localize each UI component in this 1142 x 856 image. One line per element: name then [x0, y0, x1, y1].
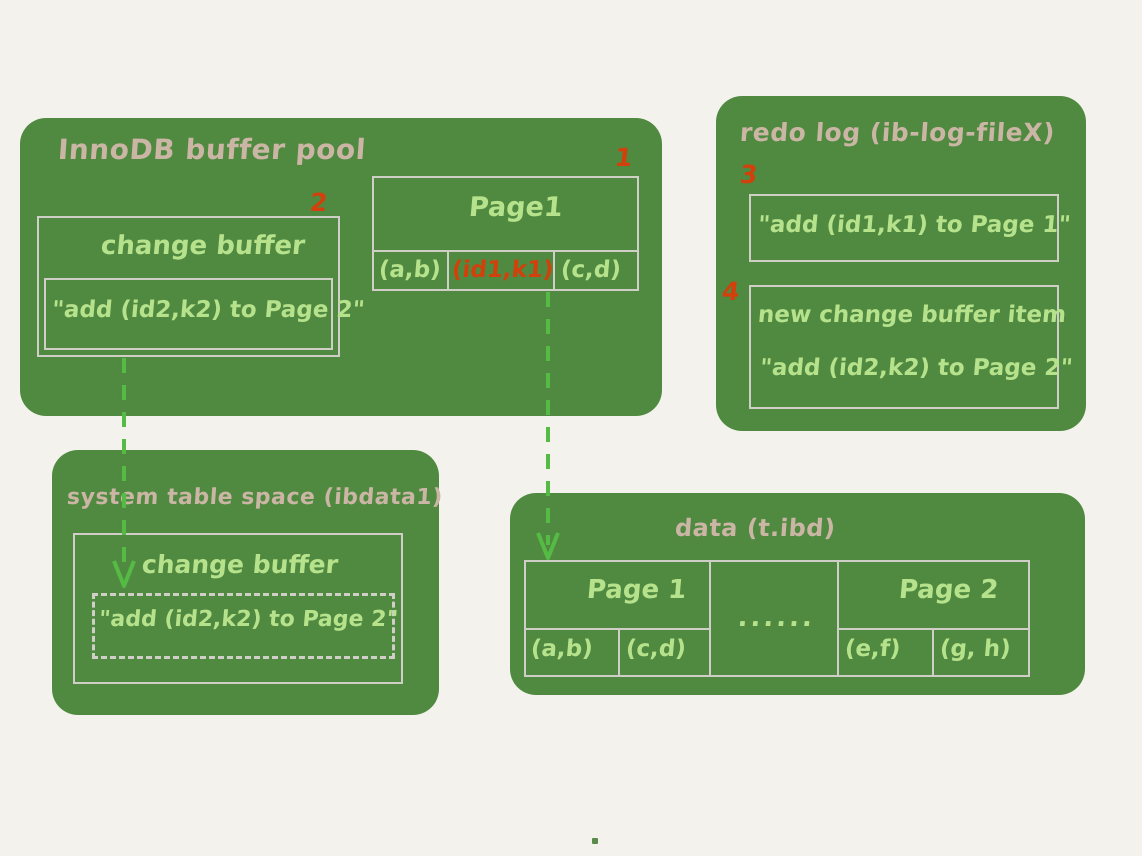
buffer-pool-page1-title: Page1: [468, 192, 564, 223]
buffer-pool-change-buffer-label: change buffer: [100, 231, 307, 261]
data-file-page2-cell-divider: [932, 628, 934, 677]
data-file-page1-header-divider: [524, 628, 709, 630]
system-tablespace-change-buffer-item-text: "add (id2,k2) to Page 2": [98, 607, 399, 632]
redo-log-entry-1-text: "add (id1,k1) to Page 1": [757, 212, 1072, 238]
marker-2-change-buffer: 2: [308, 188, 328, 217]
diagram-canvas: InnoDB buffer pool 1 2 change buffer "ad…: [0, 0, 1142, 856]
marker-3-redo-entry-1: 3: [738, 160, 758, 189]
buffer-pool-title: InnoDB buffer pool: [57, 133, 367, 166]
data-file-ellipsis: ......: [737, 603, 817, 633]
marker-4-redo-entry-2: 4: [720, 277, 740, 306]
redo-log-entry-2-line-1: "add (id2,k2) to Page 2": [759, 355, 1074, 381]
stray-dot: [592, 838, 598, 844]
data-file-page1-cell-divider: [618, 628, 620, 677]
redo-log-entry-2-line-0: new change buffer item: [757, 302, 1067, 328]
system-tablespace-change-buffer-label: change buffer: [141, 550, 340, 579]
marker-1-page: 1: [613, 143, 633, 172]
buffer-pool-page1-cell-divider-1: [447, 250, 449, 291]
buffer-pool-page1-cell-2: (c,d): [560, 257, 622, 283]
data-file-page2-cell-1: (g, h): [939, 636, 1012, 662]
buffer-pool-page1-cell-1: (id1,k1): [451, 257, 555, 283]
data-file-col-divider-1: [709, 560, 711, 677]
data-file-page1-title: Page 1: [586, 575, 688, 605]
data-file-page2-cell-0: (e,f): [844, 636, 902, 662]
system-tablespace-title: system table space (ibdata1): [66, 485, 444, 510]
buffer-pool-page1-cell-0: (a,b): [378, 257, 442, 283]
data-file-page1-cell-0: (a,b): [530, 636, 594, 662]
data-file-page1-cell-1: (c,d): [625, 636, 687, 662]
data-file-col-divider-2: [837, 560, 839, 677]
buffer-pool-page1-header-divider: [372, 250, 639, 252]
buffer-pool-change-buffer-item-text: "add (id2,k2) to Page 2": [51, 297, 366, 323]
redo-log-title: redo log (ib-log-fileX): [739, 118, 1056, 147]
data-file-title: data (t.ibd): [674, 514, 836, 542]
data-file-page2-title: Page 2: [898, 575, 1000, 605]
